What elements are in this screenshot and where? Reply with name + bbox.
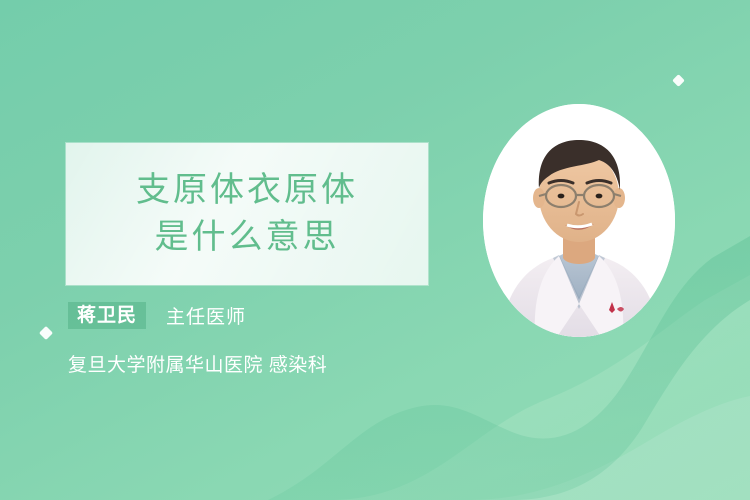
diamond-icon [39,326,53,340]
hospital-department-label: 复旦大学附属华山医院 感染科 [68,350,468,377]
health-article-cover: 支原体衣原体 是什么意思 蒋卫民 主任医师 复旦大学附属华山医院 感染科 [0,0,750,500]
doctor-portrait [483,104,675,337]
diamond-icon [672,74,685,87]
doctor-name-badge: 蒋卫民 [68,302,146,329]
doctor-title-label: 主任医师 [166,302,246,329]
portrait-illustration [483,104,675,337]
page-title: 支原体衣原体 是什么意思 [66,143,428,285]
doctor-name-row: 蒋卫民 主任医师 [68,300,468,330]
title-line-1: 支原体衣原体 [136,170,358,211]
doctor-meta: 蒋卫民 主任医师 复旦大学附属华山医院 感染科 [68,300,468,377]
title-line-2: 是什么意思 [155,217,340,258]
